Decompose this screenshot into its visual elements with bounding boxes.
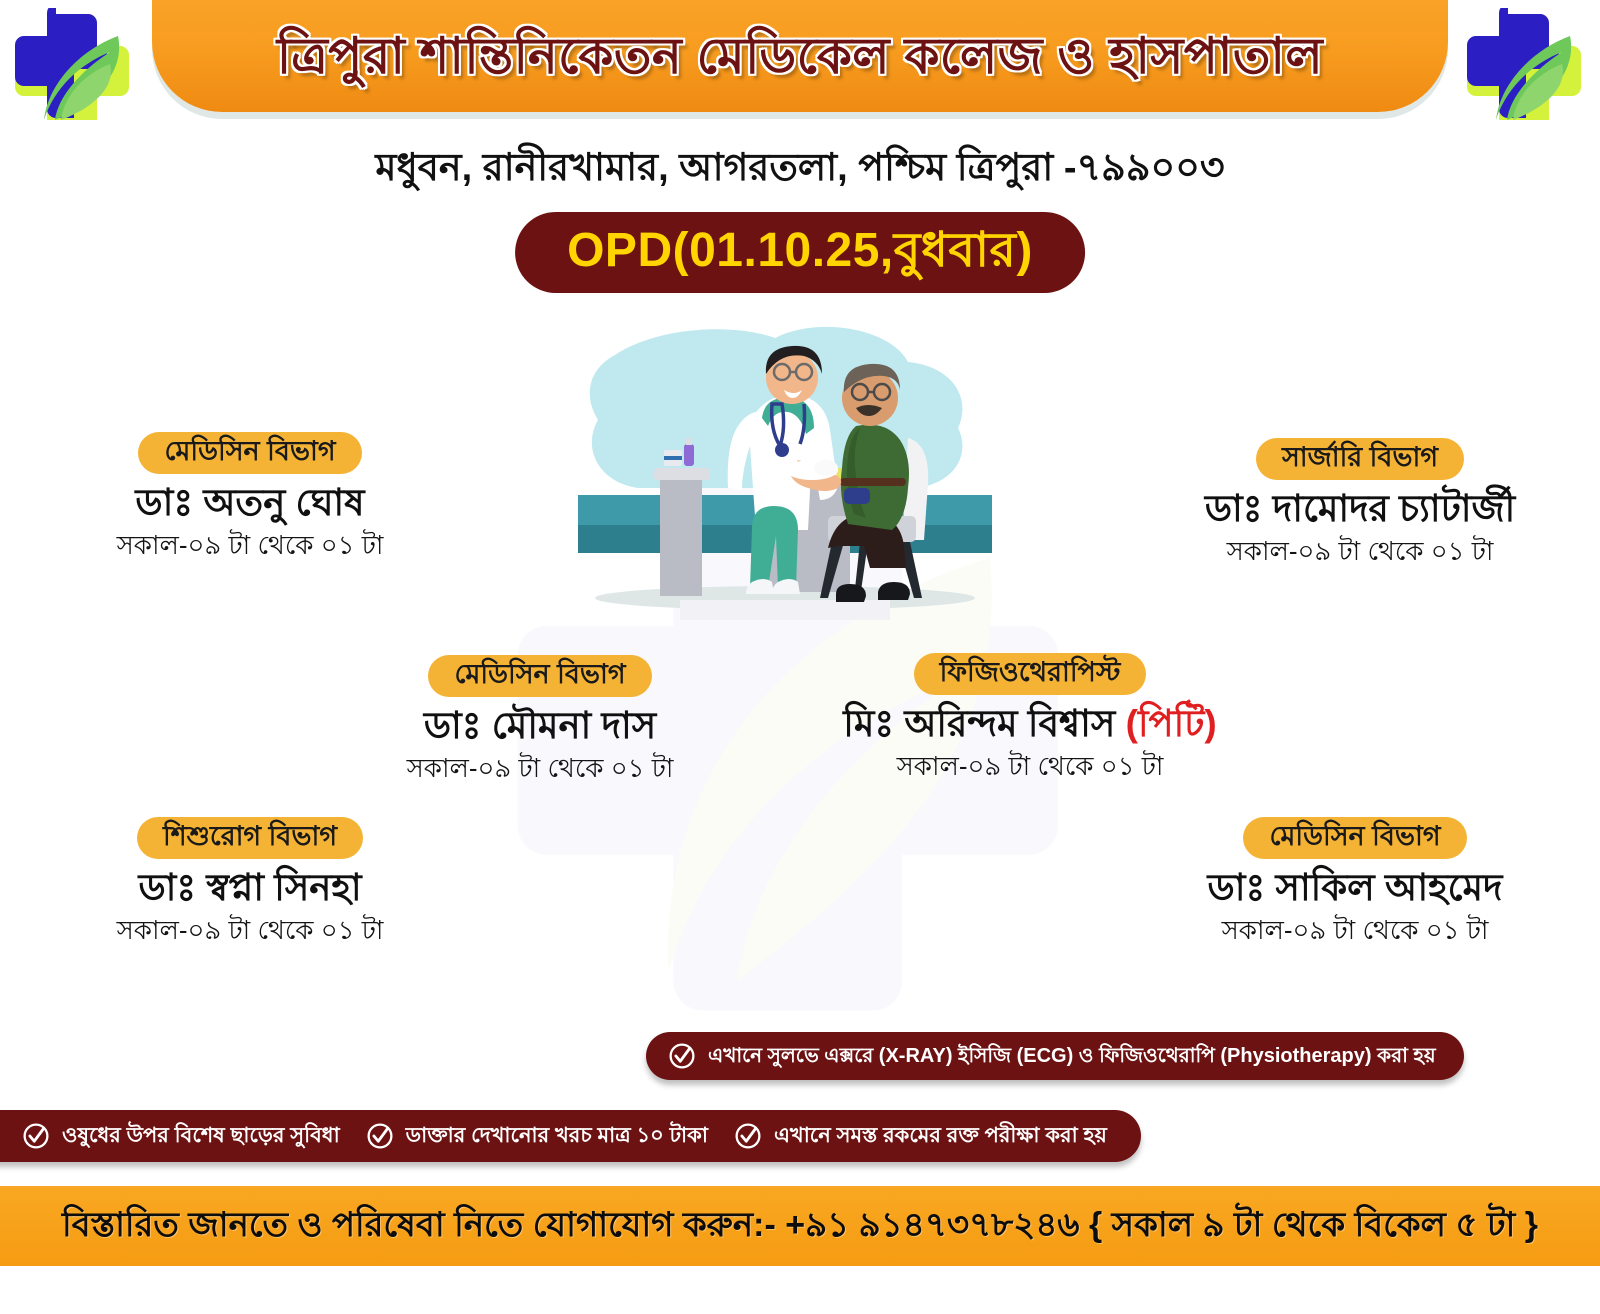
- services-bar: এখানে সুলভে এক্সরে (X-RAY) ইসিজি (ECG) ও…: [646, 1032, 1464, 1080]
- department-badge: সার্জারি বিভাগ: [1256, 438, 1464, 480]
- department-badge: মেডিসিন বিভাগ: [1243, 817, 1466, 859]
- doctor-name: ডাঃ অতনু ঘোষ: [40, 483, 460, 524]
- contact-footer: বিস্তারিত জানতে ও পরিষেবা নিতে যোগাযোগ ক…: [0, 1186, 1600, 1266]
- doctor-name: ডাঃ স্বপ্না সিনহা: [40, 868, 460, 909]
- doctor-name-suffix: (পিটি): [1126, 703, 1217, 744]
- doctor-name: মিঃ অরিন্দম বিশ্বাস (পিটি): [800, 704, 1260, 745]
- hospital-logo-icon: [1466, 8, 1586, 120]
- service-item: ওষুধের উপর বিশেষ ছাড়ের সুবিধা: [22, 1122, 340, 1150]
- opd-poster: ত্রিপুরা শান্তিনিকেতন মেডিকেল কলেজ ও হাস…: [0, 0, 1600, 1314]
- doctor-timing: সকাল-০৯ টা থেকে ০১ টা: [320, 754, 760, 783]
- doctor-card: শিশুরোগ বিভাগ ডাঃ স্বপ্না সিনহা সকাল-০৯ …: [40, 817, 460, 945]
- doctor-timing: সকাল-০৯ টা থেকে ০১ টা: [1140, 537, 1580, 566]
- service-text: ওষুধের উপর বিশেষ ছাড়ের সুবিধা: [62, 1124, 340, 1147]
- services-bar: ওষুধের উপর বিশেষ ছাড়ের সুবিধা ডাক্তার দ…: [0, 1110, 1141, 1162]
- doctor-timing: সকাল-০৯ টা থেকে ০১ টা: [800, 752, 1260, 781]
- opd-date-badge: OPD(01.10.25,বুধবার): [515, 212, 1085, 293]
- doctor-patient-illustration: [560, 320, 1010, 620]
- hospital-address: মধুবন, রানীরখামার, আগরতলা, পশ্চিম ত্রিপু…: [0, 138, 1600, 202]
- title-plate: ত্রিপুরা শান্তিনিকেতন মেডিকেল কলেজ ও হাস…: [152, 0, 1448, 112]
- check-circle-icon: [668, 1042, 696, 1070]
- contact-text: বিস্তারিত জানতে ও পরিষেবা নিতে যোগাযোগ ক…: [62, 1207, 1538, 1244]
- department-badge: শিশুরোগ বিভাগ: [137, 817, 363, 859]
- department-badge: ফিজিওথেরাপিস্ট: [914, 653, 1147, 695]
- hospital-logo-icon: [14, 8, 134, 120]
- doctor-card: মেডিসিন বিভাগ ডাঃ মৌমনা দাস সকাল-০৯ টা থ…: [320, 655, 760, 783]
- doctor-name: ডাঃ সাকিল আহমেদ: [1130, 868, 1580, 909]
- department-badge: মেডিসিন বিভাগ: [428, 655, 651, 697]
- service-item: এখানে সুলভে এক্সরে (X-RAY) ইসিজি (ECG) ও…: [668, 1042, 1436, 1070]
- services-banner-row: ওষুধের উপর বিশেষ ছাড়ের সুবিধা ডাক্তার দ…: [0, 1110, 1141, 1162]
- doctor-card: মেডিসিন বিভাগ ডাঃ অতনু ঘোষ সকাল-০৯ টা থে…: [40, 432, 460, 560]
- department-badge: মেডিসিন বিভাগ: [138, 432, 361, 474]
- check-circle-icon: [22, 1122, 50, 1150]
- service-text: এখানে সুলভে এক্সরে (X-RAY) ইসিজি (ECG) ও…: [708, 1045, 1436, 1067]
- check-circle-icon: [366, 1122, 394, 1150]
- service-text: এখানে সমস্ত রকমের রক্ত পরীক্ষা করা হয়: [774, 1124, 1107, 1147]
- poster-header: ত্রিপুরা শান্তিনিকেতন মেডিকেল কলেজ ও হাস…: [0, 0, 1600, 128]
- doctor-name: ডাঃ মৌমনা দাস: [320, 706, 760, 747]
- doctor-timing: সকাল-০৯ টা থেকে ০১ টা: [40, 916, 460, 945]
- check-circle-icon: [734, 1122, 762, 1150]
- doctor-card: ফিজিওথেরাপিস্ট মিঃ অরিন্দম বিশ্বাস (পিটি…: [800, 653, 1260, 781]
- page-title: ত্রিপুরা শান্তিনিকেতন মেডিকেল কলেজ ও হাস…: [277, 30, 1323, 83]
- services-banner-row: এখানে সুলভে এক্সরে (X-RAY) ইসিজি (ECG) ও…: [646, 1032, 1464, 1080]
- service-text: ডাক্তার দেখানোর খরচ মাত্র ১০ টাকা: [406, 1124, 708, 1147]
- service-item: এখানে সমস্ত রকমের রক্ত পরীক্ষা করা হয়: [734, 1122, 1107, 1150]
- doctor-card: মেডিসিন বিভাগ ডাঃ সাকিল আহমেদ সকাল-০৯ টা…: [1130, 817, 1580, 945]
- doctor-timing: সকাল-০৯ টা থেকে ০১ টা: [1130, 916, 1580, 945]
- doctor-timing: সকাল-০৯ টা থেকে ০১ টা: [40, 531, 460, 560]
- doctor-name: ডাঃ দামোদর চ্যাটার্জী: [1140, 489, 1580, 530]
- doctor-card: সার্জারি বিভাগ ডাঃ দামোদর চ্যাটার্জী সকা…: [1140, 438, 1580, 566]
- service-item: ডাক্তার দেখানোর খরচ মাত্র ১০ টাকা: [366, 1122, 708, 1150]
